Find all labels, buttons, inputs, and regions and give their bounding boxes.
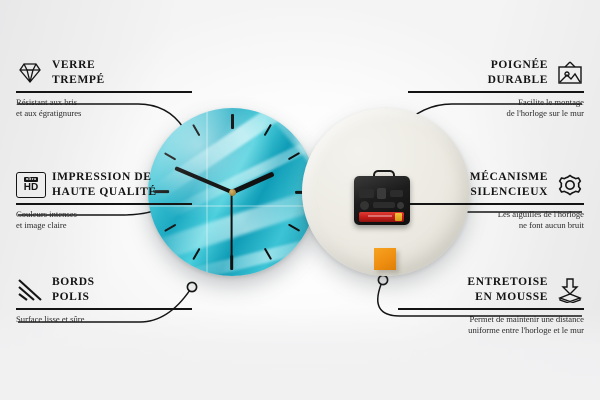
feature-subtitle: Surface lisse et sûre — [16, 314, 192, 326]
feature-title: POIGNÉEDURABLE — [488, 58, 548, 87]
feature-subtitle: Couleurs intenseset image claire — [16, 209, 192, 232]
feature-title: MÉCANISMESILENCIEUX — [470, 170, 548, 199]
feature-title: IMPRESSION DEHAUTE QUALITÉ — [52, 170, 157, 199]
feature-poignee-durable: POIGNÉEDURABLE Facilite le montagede l'h… — [408, 58, 584, 120]
feature-subtitle: Facilite le montagede l'horloge sur le m… — [408, 97, 584, 120]
gear-icon — [556, 172, 584, 198]
diamond-icon — [16, 60, 44, 86]
feature-subtitle: Permet de maintenir une distanceuniforme… — [398, 314, 584, 337]
feature-verre-trempe: VERRETREMPÉ Résistant aux briset aux égr… — [16, 58, 192, 120]
mechanism-housing — [354, 176, 410, 225]
feature-impression-haute-qualite: ultra HD IMPRESSION DEHAUTE QUALITÉ Coul… — [16, 170, 192, 232]
diagonal-stripes-icon — [16, 277, 44, 303]
foam-spacer — [374, 248, 396, 270]
clock-mechanism — [354, 170, 410, 225]
feature-title: ENTRETOISEEN MOUSSE — [467, 275, 548, 304]
divider — [16, 91, 192, 92]
infographic-canvas: VERRETREMPÉ Résistant aux briset aux égr… — [0, 0, 600, 400]
feature-title: BORDSPOLIS — [52, 275, 95, 304]
ultra-hd-icon: ultra HD — [16, 172, 44, 198]
feature-mecanisme-silencieux: MÉCANISMESILENCIEUX Les aiguilles de l'h… — [408, 170, 584, 232]
divider — [398, 308, 584, 309]
foam-spacer-icon — [556, 277, 584, 303]
battery — [359, 212, 404, 222]
feature-subtitle: Résistant aux briset aux égratignures — [16, 97, 192, 120]
feature-subtitle: Les aiguilles de l'horlogene font aucun … — [408, 209, 584, 232]
divider — [408, 203, 584, 204]
wall-hanger-icon — [556, 60, 584, 86]
divider — [16, 308, 192, 309]
divider — [408, 91, 584, 92]
feature-title: VERRETREMPÉ — [52, 58, 105, 87]
feature-bords-polis: BORDSPOLIS Surface lisse et sûre — [16, 275, 192, 325]
feature-entretoise-en-mousse: ENTRETOISEEN MOUSSE Permet de maintenir … — [398, 275, 584, 337]
connector-dot-entretoise — [378, 275, 387, 284]
divider — [16, 203, 192, 204]
